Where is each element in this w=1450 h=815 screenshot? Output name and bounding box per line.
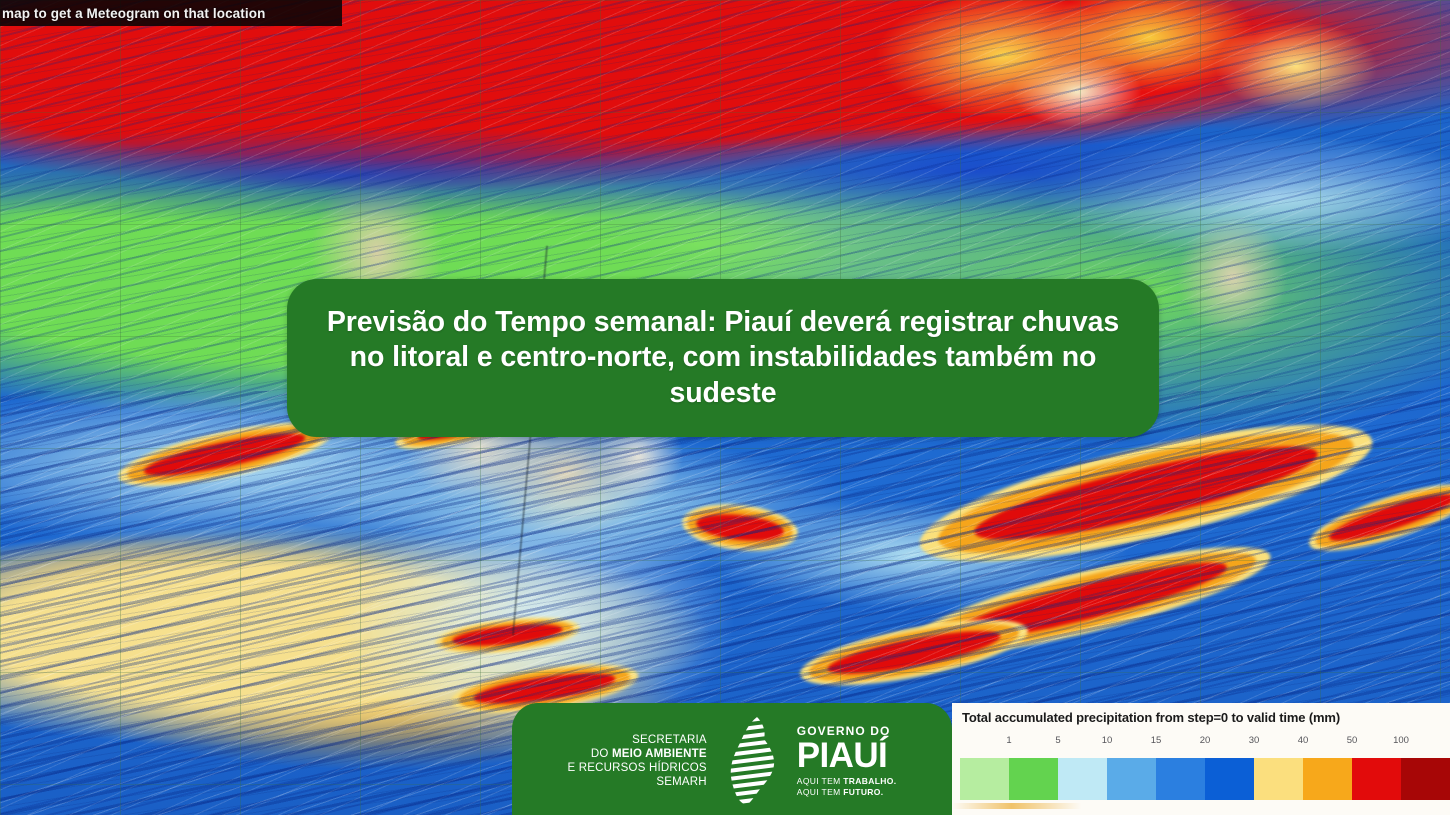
weather-forecast-graphic: map to get a Meteogram on that location …: [0, 0, 1450, 815]
legend-swatch: [1303, 758, 1352, 800]
meteogram-hint-text: map to get a Meteogram on that location: [0, 6, 265, 21]
semarh-line-4: SEMARH: [568, 775, 707, 789]
legend-tick: 20: [1200, 735, 1211, 746]
legend-tick-labels: 15101520304050100: [960, 735, 1450, 749]
slogan-1-bold: TRABALHO.: [843, 776, 896, 786]
legend-tick: 10: [1102, 735, 1113, 746]
semarh-line-1: SECRETARIA: [568, 733, 707, 747]
semarh-line-3: E RECURSOS HÍDRICOS: [568, 761, 707, 775]
page-title: Previsão do Tempo semanal: Piauí deverá …: [287, 305, 1159, 411]
slogan-2-prefix: AQUI TEM: [797, 787, 843, 797]
legend-tick: 1: [1006, 735, 1011, 746]
legend-tick: 30: [1249, 735, 1260, 746]
legend-swatch: [1401, 758, 1450, 800]
legend-baseline: [952, 803, 1450, 809]
legend-tick: 100: [1393, 735, 1409, 746]
semarh-line-2-bold: MEIO AMBIENTE: [612, 748, 707, 760]
semarh-line-2: DO MEIO AMBIENTE: [568, 747, 707, 761]
semarh-logo-text: SECRETARIA DO MEIO AMBIENTE E RECURSOS H…: [568, 733, 707, 789]
legend-swatch: [1205, 758, 1254, 800]
legend-tick: 50: [1347, 735, 1358, 746]
meteogram-hint-strip: map to get a Meteogram on that location: [0, 0, 342, 26]
legend-swatch: [1009, 758, 1058, 800]
headline-banner: Previsão do Tempo semanal: Piauí deverá …: [287, 279, 1159, 437]
legend-tick: 40: [1298, 735, 1309, 746]
legend-swatch: [960, 758, 1009, 800]
legend-title: Total accumulated precipitation from ste…: [962, 710, 1340, 725]
slogan-2-bold: FUTURO.: [843, 787, 883, 797]
slogan-1-prefix: AQUI TEM: [797, 776, 843, 786]
legend-tick: 15: [1151, 735, 1162, 746]
piaui-state-map-icon: [721, 715, 783, 807]
legend-swatch: [1156, 758, 1205, 800]
legend-tick: 5: [1055, 735, 1060, 746]
semarh-line-2-prefix: DO: [591, 748, 612, 760]
slogan-line-2: AQUI TEM FUTURO.: [797, 788, 897, 797]
legend-swatch: [1254, 758, 1303, 800]
precipitation-legend: Total accumulated precipitation from ste…: [952, 703, 1450, 815]
legend-swatch: [1352, 758, 1401, 800]
piaui-wordmark: PIAUÍ: [797, 738, 897, 774]
legend-swatch: [1107, 758, 1156, 800]
legend-colorbar: [960, 758, 1450, 800]
slogan-line-1: AQUI TEM TRABALHO.: [797, 777, 897, 786]
logo-panel: SECRETARIA DO MEIO AMBIENTE E RECURSOS H…: [512, 703, 952, 815]
legend-swatch: [1058, 758, 1107, 800]
governo-piaui-logo-text: GOVERNO DO PIAUÍ AQUI TEM TRABALHO. AQUI…: [797, 725, 897, 797]
